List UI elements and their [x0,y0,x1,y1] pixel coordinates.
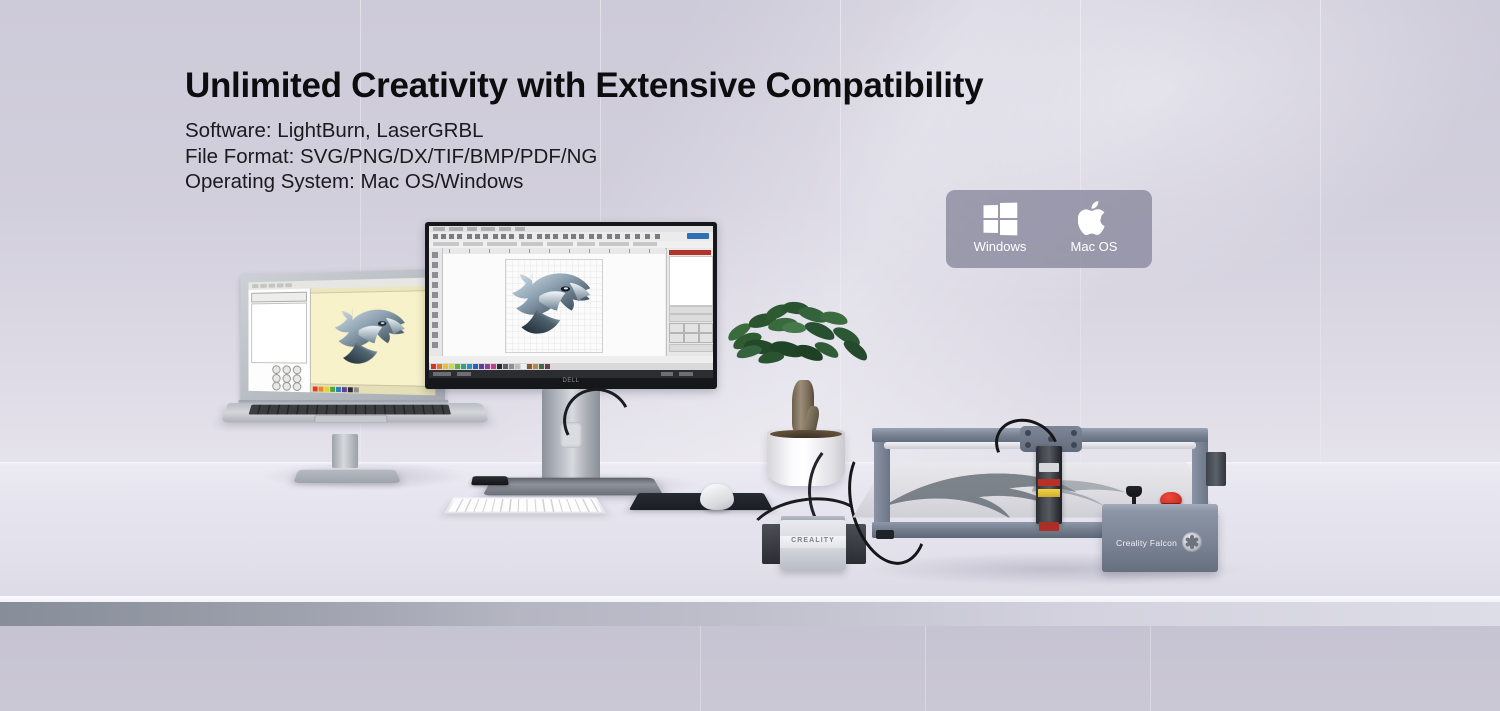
laser-engraver[interactable]: Creality Falcon [862,418,1240,590]
pump-body: CREALITY [780,520,846,570]
laptop-stand-column [332,434,358,468]
os-badge-windows: Windows [952,198,1048,260]
engraver-control-box: Creality Falcon [1102,510,1218,572]
keyboard[interactable] [444,498,606,514]
spec-line-software: Software: LightBurn, LaserGRBL [185,118,597,144]
spec-line-operating-system: Operating System: Mac OS/Windows [185,169,597,195]
engraver-foot [876,530,894,539]
lower-wall-seam [1150,626,1151,711]
laptop-app-color-palette [311,383,436,395]
spec-line-file-format: File Format: SVG/PNG/DX/TIF/BMP/PDF/NG [185,144,597,170]
os-badge-macos: Mac OS [1046,198,1142,260]
desktop-monitor[interactable]: DELL [425,222,717,482]
pump-brand-label: CREALITY [780,537,846,544]
laptop-keyboard[interactable] [249,405,451,415]
engraver-stepper-motor [1206,452,1226,486]
monitor-bezel [425,222,717,389]
windows-logo-icon [983,198,1017,238]
laptop-screen [249,277,436,395]
eagle-artwork [326,299,419,380]
monitor-screen [429,226,713,378]
lower-wall [0,626,1500,711]
os-badge-label: Mac OS [1071,239,1118,254]
os-badge-label: Windows [974,239,1027,254]
laser-module[interactable] [1036,446,1062,524]
desk-edge-shadow [0,602,520,626]
app-right-panel[interactable] [666,248,713,356]
lower-wall-seam [700,626,701,711]
laptop-app-canvas [311,286,436,396]
laptop-app-jog-pad [272,365,306,389]
app-color-palette[interactable] [429,363,713,370]
laptop-stand-base [293,470,401,483]
lower-wall-seam [925,626,926,711]
engraver-brand-label: Creality Falcon [1116,538,1177,548]
app-workspace[interactable] [443,254,665,356]
laptop-lid [240,269,445,408]
wall-panel-seam [1320,0,1321,480]
smartphone[interactable] [471,476,509,485]
app-tool-palette[interactable] [429,248,443,356]
fan-vent-icon [1182,532,1202,552]
laptop-trackpad[interactable] [314,415,388,422]
product-feature-banner: Unlimited Creativity with Extensive Comp… [0,0,1500,711]
monitor-brand-label: DELL [554,377,588,386]
spec-list: Software: LightBurn, LaserGRBL File Form… [185,118,597,195]
page-title: Unlimited Creativity with Extensive Comp… [185,66,983,106]
bonsai-leaf [782,322,806,334]
apple-logo-icon [1078,198,1111,238]
mouse[interactable] [700,484,734,510]
eagle-artwork [501,262,607,350]
laptop-app-left-panel [249,289,311,393]
bonsai-trunk [792,380,814,434]
monitor-stand-base [483,478,664,496]
os-compatibility-panel: Windows Mac OS [946,190,1152,268]
